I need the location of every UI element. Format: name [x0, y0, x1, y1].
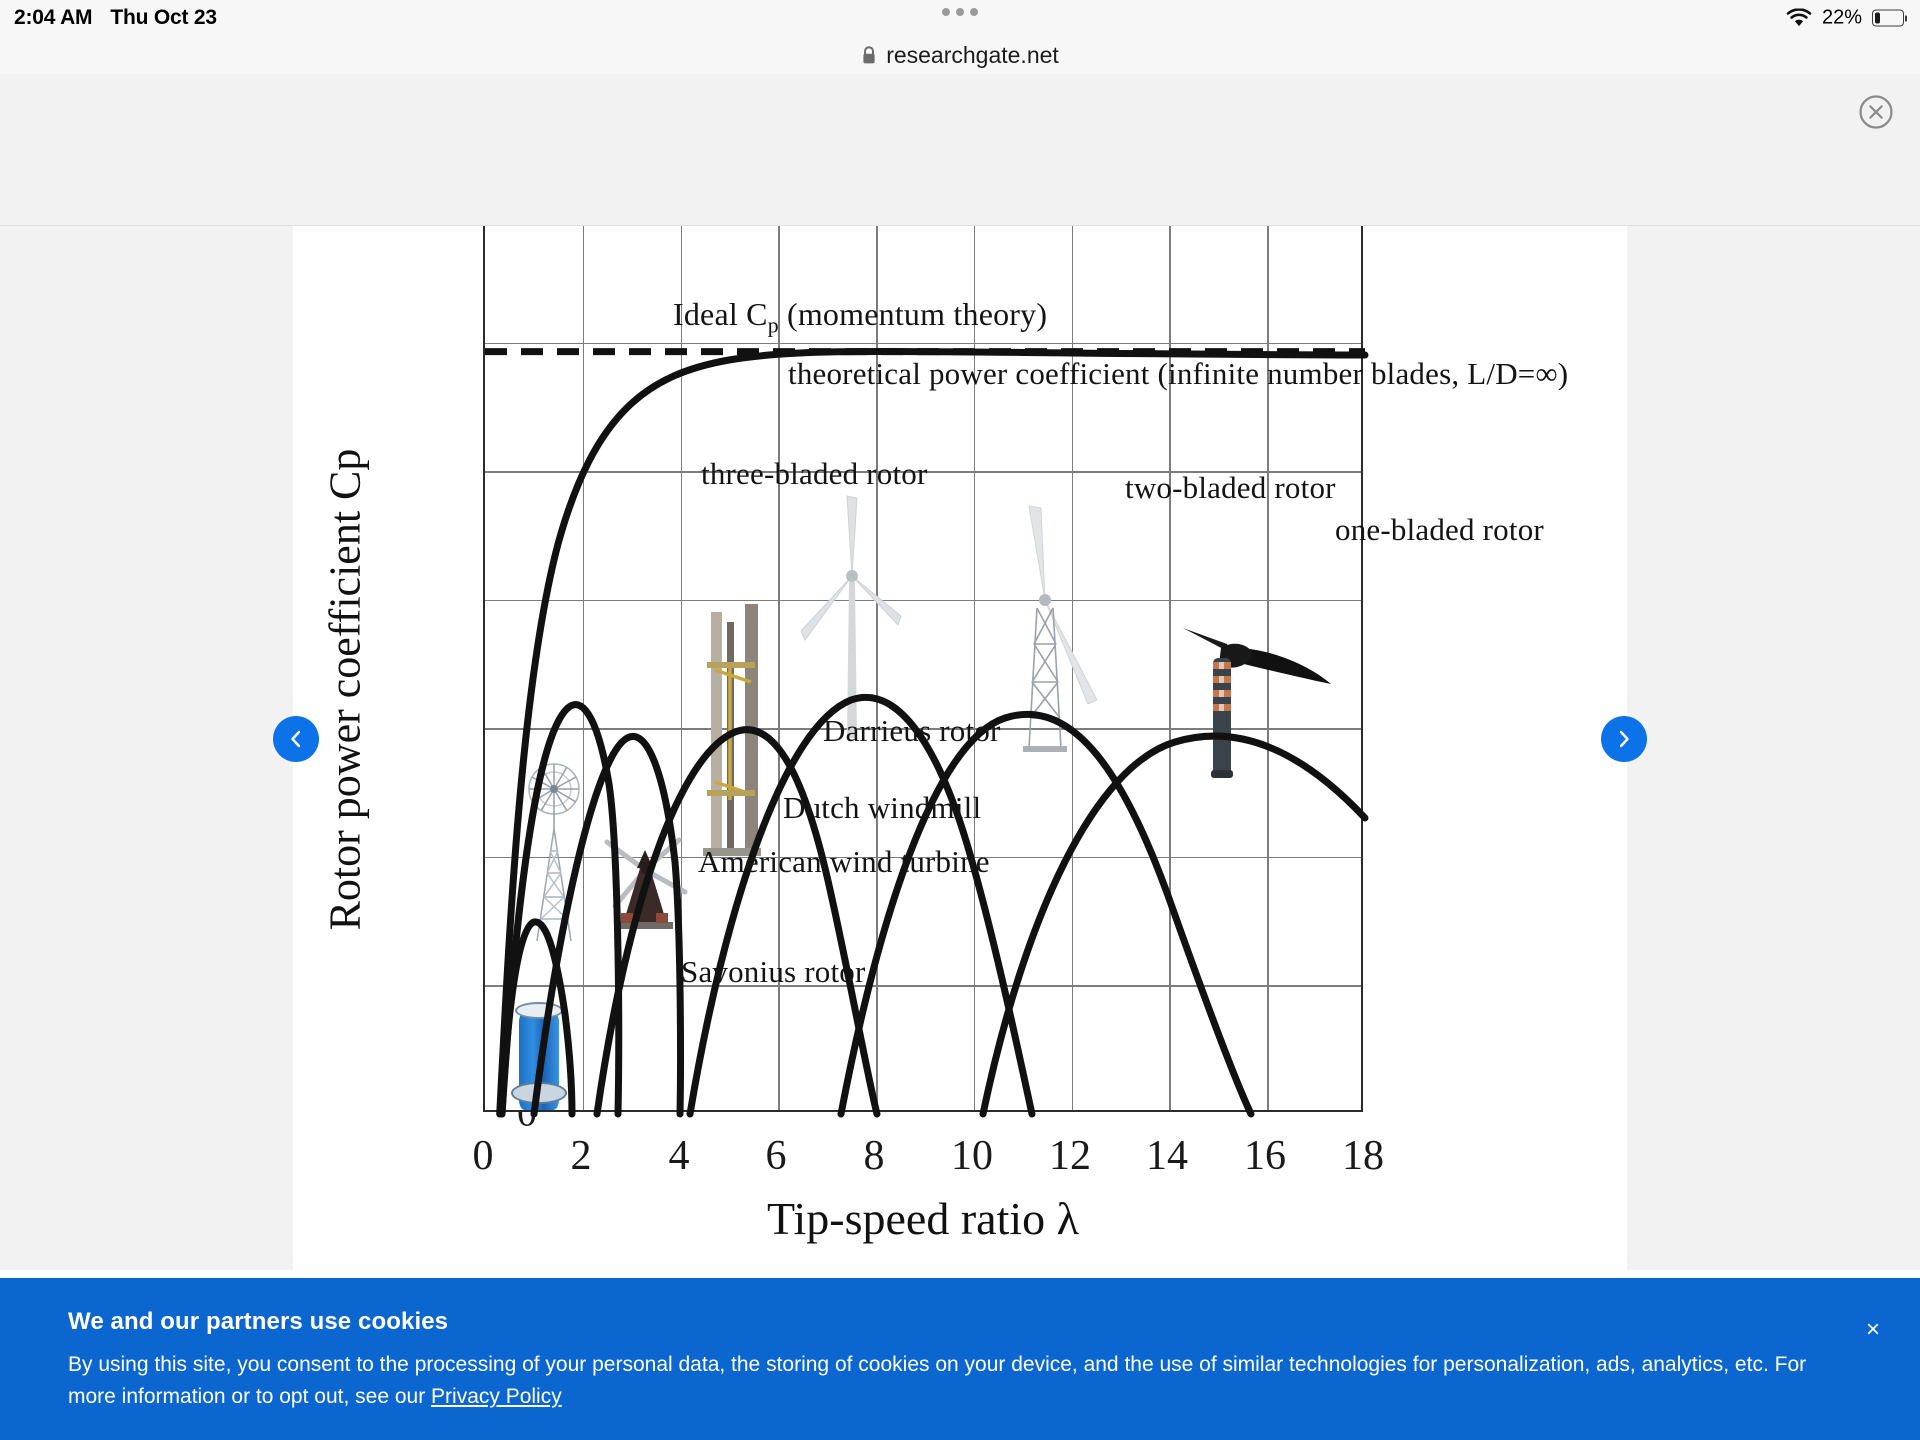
image-viewer-toolbar: [0, 74, 1920, 226]
close-icon[interactable]: [1856, 92, 1896, 132]
annotation-darrieus-rotor: Darrieus rotor: [823, 713, 1001, 749]
x-tick-label: 18: [1342, 1132, 1384, 1180]
x-tick-label: 14: [1146, 1132, 1188, 1180]
annotation-savonius-rotor: Savonius rotor: [681, 954, 866, 990]
annotation-theoretical-power-coefficient: theoretical power coefficient (infinite …: [788, 356, 1568, 392]
annotation-three-bladed-rotor: three-bladed rotor: [701, 456, 928, 492]
prev-image-button[interactable]: [273, 716, 319, 762]
wifi-icon: [1786, 9, 1812, 28]
ios-status-bar: 2:04 AM Thu Oct 23 22%: [0, 0, 1920, 36]
status-bar-left: 2:04 AM Thu Oct 23: [14, 6, 217, 30]
annotation-two-bladed-rotor: two-bladed rotor: [1125, 470, 1336, 506]
annotation-ideal-cp: Ideal Cp (momentum theory): [673, 296, 1047, 338]
privacy-policy-link[interactable]: Privacy Policy: [431, 1385, 562, 1408]
figure-viewport[interactable]: Rotor power coefficient Cp 0.7 0.6 0.5 0…: [293, 226, 1627, 1270]
chevron-right-icon: [1613, 728, 1635, 750]
lock-icon: [861, 45, 877, 65]
x-tick-label: 6: [766, 1132, 787, 1180]
battery-fill: [1875, 12, 1881, 24]
x-tick-label: 2: [571, 1132, 592, 1180]
chevron-left-icon: [285, 728, 307, 750]
x-tick-label: 4: [669, 1132, 690, 1180]
dot-icon: [956, 8, 964, 16]
annotation-one-bladed-rotor: one-bladed rotor: [1335, 512, 1544, 548]
cookie-banner-close-button[interactable]: ×: [1866, 1318, 1880, 1342]
clock-date: Thu Oct 23: [110, 6, 217, 30]
x-tick-label: 12: [1049, 1132, 1091, 1180]
curve-darrieus-rotor: [597, 730, 877, 1114]
cookie-banner-body: By using this site, you consent to the p…: [68, 1349, 1858, 1413]
dot-icon: [942, 8, 950, 16]
cookie-consent-banner: We and our partners use cookies By using…: [0, 1278, 1920, 1440]
battery-percent-label: 22%: [1822, 7, 1862, 30]
curve-one-bladed-rotor: [983, 736, 1365, 1114]
next-image-button[interactable]: [1601, 716, 1647, 762]
browser-url-bar[interactable]: researchgate.net: [0, 36, 1920, 74]
battery-icon: [1872, 10, 1904, 27]
dot-icon: [970, 8, 978, 16]
x-tick-label: 16: [1244, 1132, 1286, 1180]
url-display[interactable]: researchgate.net: [861, 42, 1059, 69]
x-tick-label: 0: [473, 1132, 494, 1180]
annotation-american-wind-turbine: American wind turbine: [698, 844, 990, 880]
status-bar-right: 22%: [1786, 7, 1904, 30]
y-axis-label: Rotor power coefficient Cp: [320, 380, 371, 1000]
x-tick-label: 10: [951, 1132, 993, 1180]
chart-figure: Rotor power coefficient Cp 0.7 0.6 0.5 0…: [293, 226, 1627, 1270]
x-axis-label: Tip-speed ratio λ: [483, 1192, 1363, 1245]
x-tick-label: 8: [864, 1132, 885, 1180]
curve-two-bladed-rotor: [841, 714, 1251, 1114]
tab-indicator-dots[interactable]: [942, 8, 978, 16]
url-text: researchgate.net: [886, 42, 1059, 69]
cookie-banner-title: We and our partners use cookies: [68, 1308, 1860, 1336]
cookie-banner-text: By using this site, you consent to the p…: [68, 1353, 1806, 1408]
clock-time: 2:04 AM: [14, 6, 92, 30]
annotation-dutch-windmill: Dutch windmill: [783, 790, 981, 826]
